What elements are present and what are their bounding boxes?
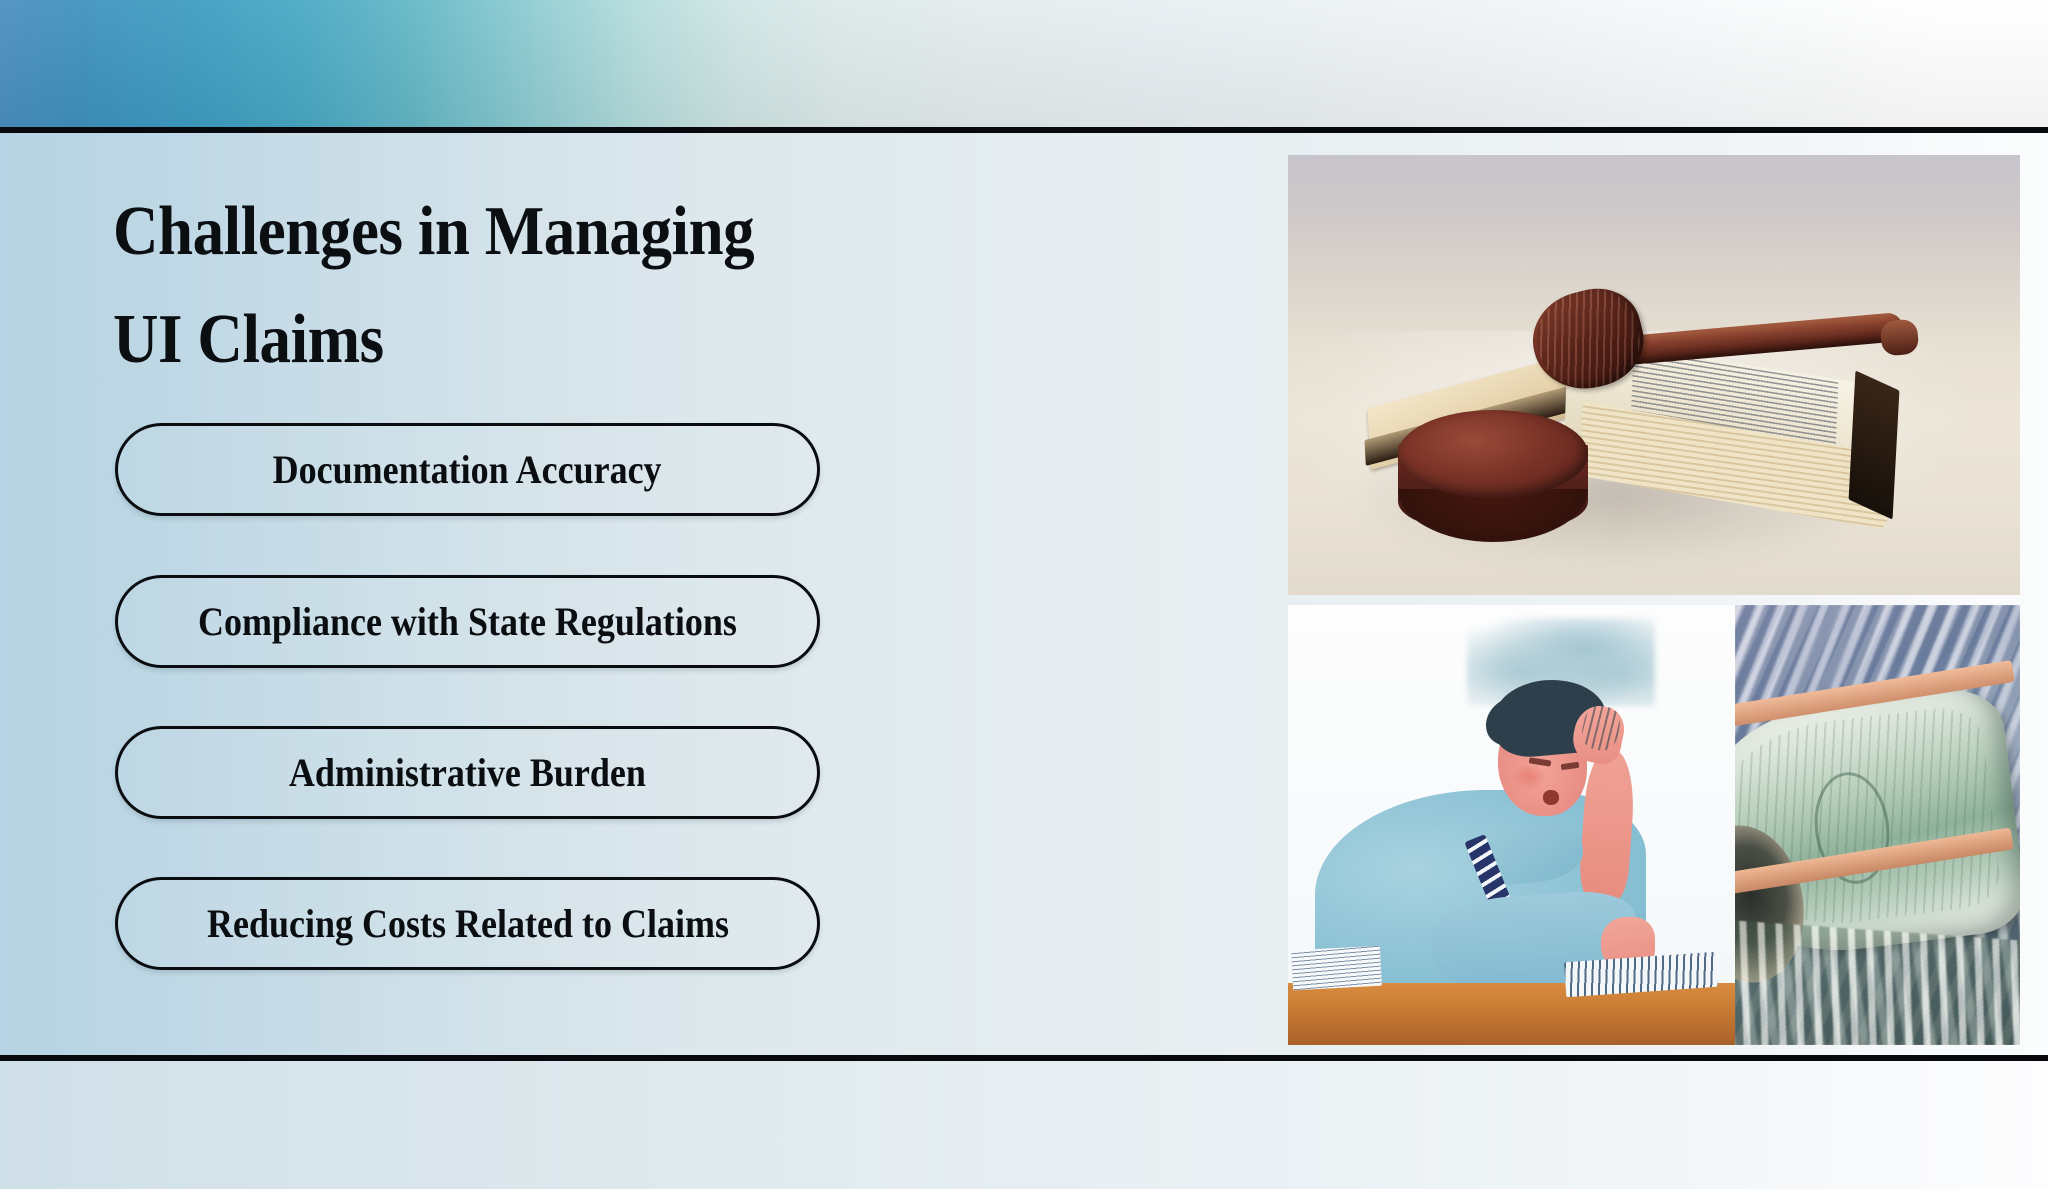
top-gradient-band — [0, 0, 2048, 127]
challenge-item-label: Administrative Burden — [289, 749, 646, 796]
challenge-item-compliance-with-state-regulations[interactable]: Compliance with State Regulations — [115, 575, 820, 668]
stressed-office-worker-illustration — [1288, 605, 1735, 1045]
challenge-item-label: Reducing Costs Related to Claims — [206, 900, 728, 947]
page-title: Challenges in Managing UI Claims — [113, 178, 1103, 394]
foreground-banknotes — [1735, 919, 2020, 1045]
slide-root: Challenges in Managing UI Claims Documen… — [0, 0, 2048, 1189]
worker-mouth — [1543, 790, 1559, 805]
challenge-item-administrative-burden[interactable]: Administrative Burden — [115, 726, 820, 819]
challenge-item-label: Documentation Accuracy — [273, 446, 662, 493]
rolled-dollar-bills-photo — [1735, 605, 2020, 1045]
book-cover-edge — [1848, 371, 1899, 520]
gavel-handle-knob — [1879, 318, 1919, 356]
challenge-item-label: Compliance with State Regulations — [198, 598, 737, 645]
bottom-gradient-band — [0, 1061, 2048, 1189]
worker-cheek-blush — [1512, 763, 1548, 789]
desk-surface — [1288, 983, 1735, 1045]
challenge-item-documentation-accuracy[interactable]: Documentation Accuracy — [115, 423, 820, 516]
gavel-and-law-book-photo — [1288, 155, 2020, 595]
paper-stack — [1291, 946, 1382, 990]
sound-block-top — [1398, 410, 1588, 498]
challenge-item-reducing-costs-related-to-claims[interactable]: Reducing Costs Related to Claims — [115, 877, 820, 970]
